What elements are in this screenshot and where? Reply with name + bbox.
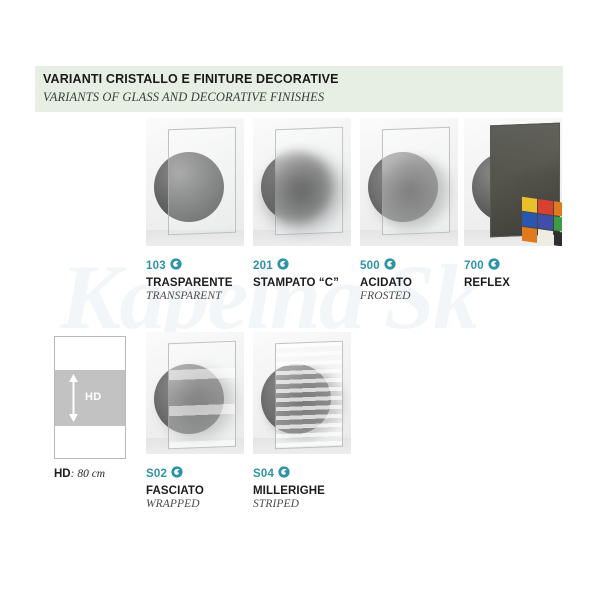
sandblast-bands xyxy=(169,342,235,449)
page-subtitle: VARIANTS OF GLASS AND DECORATIVE FINISHE… xyxy=(43,90,324,105)
swirl-circle-icon xyxy=(278,465,290,483)
sample-201[interactable] xyxy=(253,118,351,246)
sample-subtitle: FROSTED xyxy=(360,290,412,302)
code-row: 500 xyxy=(360,258,412,273)
code-row: 103 xyxy=(146,258,233,273)
glass-pane-millerighe xyxy=(275,341,343,450)
swirl-circle-icon xyxy=(171,465,183,483)
sample-subtitle: STRIPED xyxy=(253,498,325,510)
frosted-sphere xyxy=(373,156,453,233)
color-checker-chart xyxy=(522,197,562,246)
caption-103: 103 TRASPARENTE TRANSPARENT xyxy=(146,258,233,302)
sample-photo-transparent xyxy=(146,118,244,246)
sample-title: ACIDATO xyxy=(360,277,412,289)
caption-s04: S04 MILLERIGHE STRIPED xyxy=(253,466,325,510)
caption-500: 500 ACIDATO FROSTED xyxy=(360,258,412,302)
sample-photo-stampato xyxy=(253,118,351,246)
sample-500[interactable] xyxy=(360,118,458,246)
hd-double-arrow-icon xyxy=(68,374,79,422)
caption-700: 700 REFLEX xyxy=(464,258,510,290)
sample-title: REFLEX xyxy=(464,277,510,289)
swirl-circle-icon xyxy=(277,257,289,275)
swirl-circle-icon xyxy=(488,257,500,275)
sample-title: TRASPARENTE xyxy=(146,277,233,289)
sample-code: 700 xyxy=(464,260,484,272)
glass-pane-fasciato xyxy=(168,341,236,450)
hd-caption-value: : 80 cm xyxy=(71,468,106,480)
swirl-circle-icon xyxy=(384,257,396,275)
hd-caption: HD: 80 cm xyxy=(54,468,105,480)
sample-photo-reflex xyxy=(464,118,562,246)
page-title: VARIANTI CRISTALLO E FINITURE DECORATIVE xyxy=(43,72,339,86)
caption-s02: S02 FASCIATO WRAPPED xyxy=(146,466,204,510)
code-row: S02 xyxy=(146,466,204,481)
sample-code: 201 xyxy=(253,260,273,272)
sample-title: STAMPATO “C” xyxy=(253,277,339,289)
glass-pane-acidato xyxy=(382,127,450,236)
sample-code: 103 xyxy=(146,260,166,272)
code-row: 201 xyxy=(253,258,339,273)
sample-700[interactable] xyxy=(464,118,562,246)
sample-code: S04 xyxy=(253,468,274,480)
glass-pane-transparent xyxy=(168,127,236,236)
sample-photo-acidato xyxy=(360,118,458,246)
hd-band-label: HD xyxy=(85,391,102,403)
sample-103[interactable] xyxy=(146,118,244,246)
swirl-circle-icon xyxy=(170,257,182,275)
mirror-sheen xyxy=(491,124,559,177)
sample-s04[interactable] xyxy=(253,332,351,454)
sample-code: S02 xyxy=(146,468,167,480)
diffused-sphere xyxy=(262,154,348,235)
code-row: S04 xyxy=(253,466,325,481)
catalog-page: Kapelna Sk VARIANTI CRISTALLO E FINITURE… xyxy=(0,0,600,600)
sample-subtitle: WRAPPED xyxy=(146,498,204,510)
sample-photo-millerighe xyxy=(253,332,351,454)
caption-201: 201 STAMPATO “C” xyxy=(253,258,339,290)
hd-dimension-diagram: HD xyxy=(54,336,126,459)
sample-photo-fasciato xyxy=(146,332,244,454)
sample-title: MILLERIGHE xyxy=(253,485,325,497)
sample-code: 500 xyxy=(360,260,380,272)
sample-s02[interactable] xyxy=(146,332,244,454)
sample-subtitle: TRANSPARENT xyxy=(146,290,233,302)
sample-title: FASCIATO xyxy=(146,485,204,497)
fine-stripes xyxy=(276,342,342,449)
code-row: 700 xyxy=(464,258,510,273)
glass-pane-stampato xyxy=(275,127,343,236)
hd-caption-bold: HD xyxy=(54,468,71,480)
